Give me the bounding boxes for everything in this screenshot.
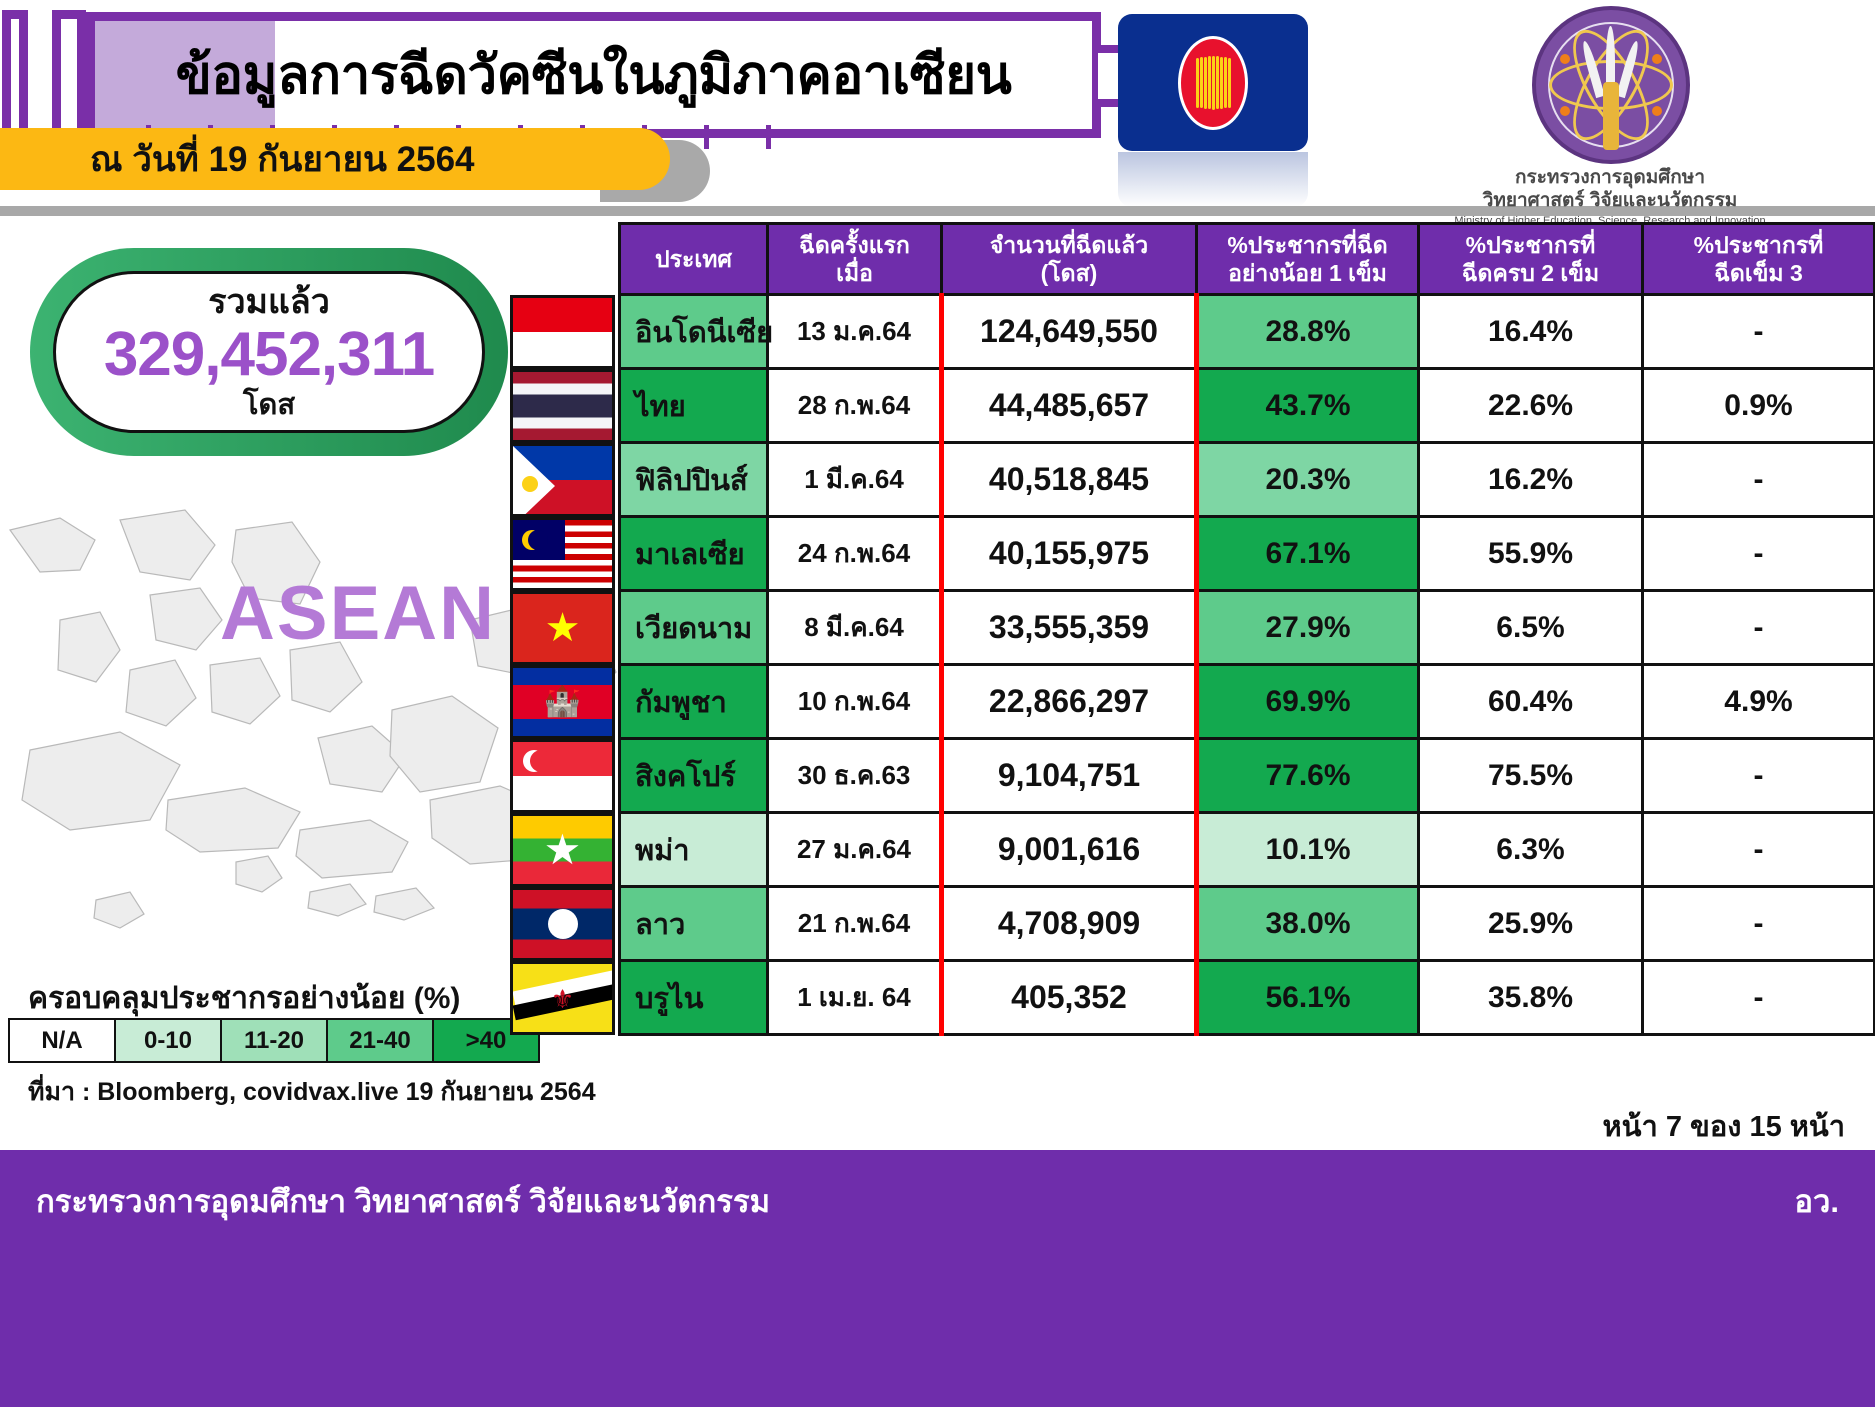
total-unit: โดส [243, 388, 295, 422]
table-row: ฟิลิปปินส์1 มี.ค.6440,518,84520.3%16.2%- [620, 443, 1875, 517]
cell-country: บรูไน [620, 961, 768, 1035]
table-header-cell-3: จำนวนที่ฉีดแล้ว(โดส) [942, 224, 1197, 295]
flag-brunei-icon: ⚜ [510, 961, 615, 1035]
cell-first-dose-date: 27 ม.ค.64 [768, 813, 942, 887]
table-header-cell-1: ประเทศ [620, 224, 768, 295]
table-header-cell-6: %ประชากรที่ฉีดเข็ม 3 [1643, 224, 1875, 295]
cell-pct-2-dose: 6.5% [1419, 591, 1643, 665]
date-banner-label: ณ วันที่ 19 กันยายน 2564 [90, 132, 475, 187]
cell-total-doses: 40,518,845 [942, 443, 1197, 517]
page-title: ข้อมูลการฉีดวัคซีนในภูมิภาคอาเซียน [95, 21, 1092, 129]
cell-total-doses: 9,001,616 [942, 813, 1197, 887]
cell-pct-3-dose: 4.9% [1643, 665, 1875, 739]
cell-pct-3-dose: - [1643, 739, 1875, 813]
cell-country: อินโดนีเซีย [620, 295, 768, 369]
total-label: รวมแล้ว [208, 282, 330, 322]
cell-pct-3-dose: - [1643, 295, 1875, 369]
cell-pct-2-dose: 22.6% [1419, 369, 1643, 443]
table-header-cell-5: %ประชากรที่ฉีดครบ 2 เข็ม [1419, 224, 1643, 295]
cell-total-doses: 33,555,359 [942, 591, 1197, 665]
table-row: กัมพูชา10 ก.พ.6422,866,29769.9%60.4%4.9% [620, 665, 1875, 739]
flag-cambodia-icon: 🏰 [510, 665, 615, 739]
ruler-tick [766, 125, 771, 149]
cell-pct-1-dose: 67.1% [1197, 517, 1419, 591]
cell-pct-2-dose: 75.5% [1419, 739, 1643, 813]
footer-right-label: อว. [1794, 1176, 1839, 1226]
table-row: พม่า27 ม.ค.649,001,61610.1%6.3%- [620, 813, 1875, 887]
cell-pct-3-dose: - [1643, 443, 1875, 517]
cell-total-doses: 40,155,975 [942, 517, 1197, 591]
source-note: ที่มา : Bloomberg, covidvax.live 19 กันย… [28, 1072, 596, 1112]
seal-stem [1603, 82, 1619, 150]
vaccination-table: ประเทศฉีดครั้งแรกเมื่อจำนวนที่ฉีดแล้ว(โด… [618, 222, 1875, 1036]
cell-pct-1-dose: 38.0% [1197, 887, 1419, 961]
cell-pct-2-dose: 6.3% [1419, 813, 1643, 887]
ministry-logo-block: กระทรวงการอุดมศึกษา วิทยาศาสตร์ วิจัยและ… [1360, 6, 1860, 211]
date-banner: ณ วันที่ 19 กันยายน 2564 [0, 128, 670, 190]
flag-myanmar-icon: ★ [510, 813, 615, 887]
cell-pct-2-dose: 16.4% [1419, 295, 1643, 369]
table-row: อินโดนีเซีย13 ม.ค.64124,649,55028.8%16.4… [620, 295, 1875, 369]
cell-country: กัมพูชา [620, 665, 768, 739]
flag-thailand-icon [510, 369, 615, 443]
flag-singapore-icon [510, 739, 615, 813]
cell-first-dose-date: 10 ก.พ.64 [768, 665, 942, 739]
header-decor-bar-1 [2, 10, 28, 140]
cell-pct-1-dose: 69.9% [1197, 665, 1419, 739]
vaccination-table-wrap: ประเทศฉีดครั้งแรกเมื่อจำนวนที่ฉีดแล้ว(โด… [618, 222, 1873, 1036]
cell-first-dose-date: 13 ม.ค.64 [768, 295, 942, 369]
asean-emblem [1178, 36, 1248, 130]
table-row: เวียดนาม8 มี.ค.6433,555,35927.9%6.5%- [620, 591, 1875, 665]
flag-laos-icon [510, 887, 615, 961]
table-row: ไทย28 ก.พ.6444,485,65743.7%22.6%0.9% [620, 369, 1875, 443]
cell-total-doses: 44,485,657 [942, 369, 1197, 443]
cell-country: ไทย [620, 369, 768, 443]
seal-dot-3 [1560, 106, 1570, 116]
table-body: อินโดนีเซีย13 ม.ค.64124,649,55028.8%16.4… [620, 295, 1875, 1035]
country-flag-strip: ★🏰★⚜ [510, 295, 618, 1035]
cell-pct-1-dose: 77.6% [1197, 739, 1419, 813]
cell-country: เวียดนาม [620, 591, 768, 665]
footer-left-label: กระทรวงการอุดมศึกษา วิทยาศาสตร์ วิจัยและ… [36, 1176, 770, 1226]
flag-vietnam-icon: ★ [510, 591, 615, 665]
header-decor-bar-2 [52, 10, 86, 140]
flag-malaysia-icon [510, 517, 615, 591]
total-doses-inner: รวมแล้ว 329,452,311 โดส [53, 271, 485, 433]
legend-scale: N/A0-1011-2021-40>40 [8, 1018, 538, 1063]
cell-first-dose-date: 1 มี.ค.64 [768, 443, 942, 517]
legend-item-3: 11-20 [220, 1018, 328, 1063]
table-row: บรูไน1 เม.ย. 64405,35256.1%35.8%- [620, 961, 1875, 1035]
cell-pct-2-dose: 16.2% [1419, 443, 1643, 517]
cell-pct-1-dose: 20.3% [1197, 443, 1419, 517]
cell-first-dose-date: 28 ก.พ.64 [768, 369, 942, 443]
title-box: ข้อมูลการฉีดวัคซีนในภูมิภาคอาเซียน [86, 12, 1101, 138]
cell-pct-3-dose: - [1643, 517, 1875, 591]
cell-pct-2-dose: 55.9% [1419, 517, 1643, 591]
cell-first-dose-date: 1 เม.ย. 64 [768, 961, 942, 1035]
ministry-line-1: กระทรวงการอุดมศึกษา [1360, 166, 1860, 189]
seal-dot-2 [1652, 54, 1662, 64]
page-number: หน้า 7 ของ 15 หน้า [1603, 1103, 1845, 1149]
cell-total-doses: 9,104,751 [942, 739, 1197, 813]
cell-first-dose-date: 24 ก.พ.64 [768, 517, 942, 591]
asean-watermark: ASEAN [220, 570, 496, 657]
cell-first-dose-date: 8 มี.ค.64 [768, 591, 942, 665]
ministry-line-2: วิทยาศาสตร์ วิจัยและนวัตกรรม [1360, 189, 1860, 212]
seal-dot-1 [1560, 54, 1570, 64]
table-row: มาเลเซีย24 ก.พ.6440,155,97567.1%55.9%- [620, 517, 1875, 591]
asean-flag-icon [1118, 14, 1308, 151]
asean-rice-stalks-icon [1196, 56, 1230, 110]
legend-title: ครอบคลุมประชากรอย่างน้อย (%) [28, 975, 460, 1022]
cell-pct-3-dose: 0.9% [1643, 369, 1875, 443]
page-header: ข้อมูลการฉีดวัคซีนในภูมิภาคอาเซียน ณ วัน… [0, 0, 1875, 215]
table-header-cell-2: ฉีดครั้งแรกเมื่อ [768, 224, 942, 295]
table-row: ลาว21 ก.พ.644,708,90938.0%25.9%- [620, 887, 1875, 961]
cell-pct-1-dose: 10.1% [1197, 813, 1419, 887]
cell-pct-1-dose: 27.9% [1197, 591, 1419, 665]
legend-item-1: N/A [8, 1018, 116, 1063]
legend-item-4: 21-40 [326, 1018, 434, 1063]
cell-pct-1-dose: 43.7% [1197, 369, 1419, 443]
legend-item-2: 0-10 [114, 1018, 222, 1063]
cell-pct-3-dose: - [1643, 887, 1875, 961]
ruler-tick [704, 125, 709, 149]
table-row: สิงคโปร์30 ธ.ค.639,104,75177.6%75.5%- [620, 739, 1875, 813]
cell-pct-1-dose: 56.1% [1197, 961, 1419, 1035]
cell-pct-2-dose: 60.4% [1419, 665, 1643, 739]
table-header-cell-4: %ประชากรที่ฉีดอย่างน้อย 1 เข็ม [1197, 224, 1419, 295]
page-footer: กระทรวงการอุดมศึกษา วิทยาศาสตร์ วิจัยและ… [0, 1150, 1875, 1407]
cell-pct-1-dose: 28.8% [1197, 295, 1419, 369]
cell-total-doses: 4,708,909 [942, 887, 1197, 961]
cell-first-dose-date: 21 ก.พ.64 [768, 887, 942, 961]
cell-country: ฟิลิปปินส์ [620, 443, 768, 517]
table-header-row: ประเทศฉีดครั้งแรกเมื่อจำนวนที่ฉีดแล้ว(โด… [620, 224, 1875, 295]
seal-dot-4 [1652, 106, 1662, 116]
total-value: 329,452,311 [104, 322, 434, 388]
asean-flag-reflection [1118, 152, 1308, 207]
cell-pct-3-dose: - [1643, 591, 1875, 665]
cell-pct-3-dose: - [1643, 813, 1875, 887]
cell-total-doses: 22,866,297 [942, 665, 1197, 739]
cell-total-doses: 124,649,550 [942, 295, 1197, 369]
cell-country: สิงคโปร์ [620, 739, 768, 813]
cell-pct-2-dose: 25.9% [1419, 887, 1643, 961]
flag-indonesia-icon [510, 295, 615, 369]
cell-first-dose-date: 30 ธ.ค.63 [768, 739, 942, 813]
cell-pct-3-dose: - [1643, 961, 1875, 1035]
flag-philippines-icon [510, 443, 615, 517]
cell-country: มาเลเซีย [620, 517, 768, 591]
ministry-seal-icon [1532, 6, 1690, 164]
cell-total-doses: 405,352 [942, 961, 1197, 1035]
cell-country: พม่า [620, 813, 768, 887]
cell-country: ลาว [620, 887, 768, 961]
cell-pct-2-dose: 35.8% [1419, 961, 1643, 1035]
ministry-text: กระทรวงการอุดมศึกษา วิทยาศาสตร์ วิจัยและ… [1360, 166, 1860, 227]
total-doses-capsule: รวมแล้ว 329,452,311 โดส [30, 248, 508, 456]
